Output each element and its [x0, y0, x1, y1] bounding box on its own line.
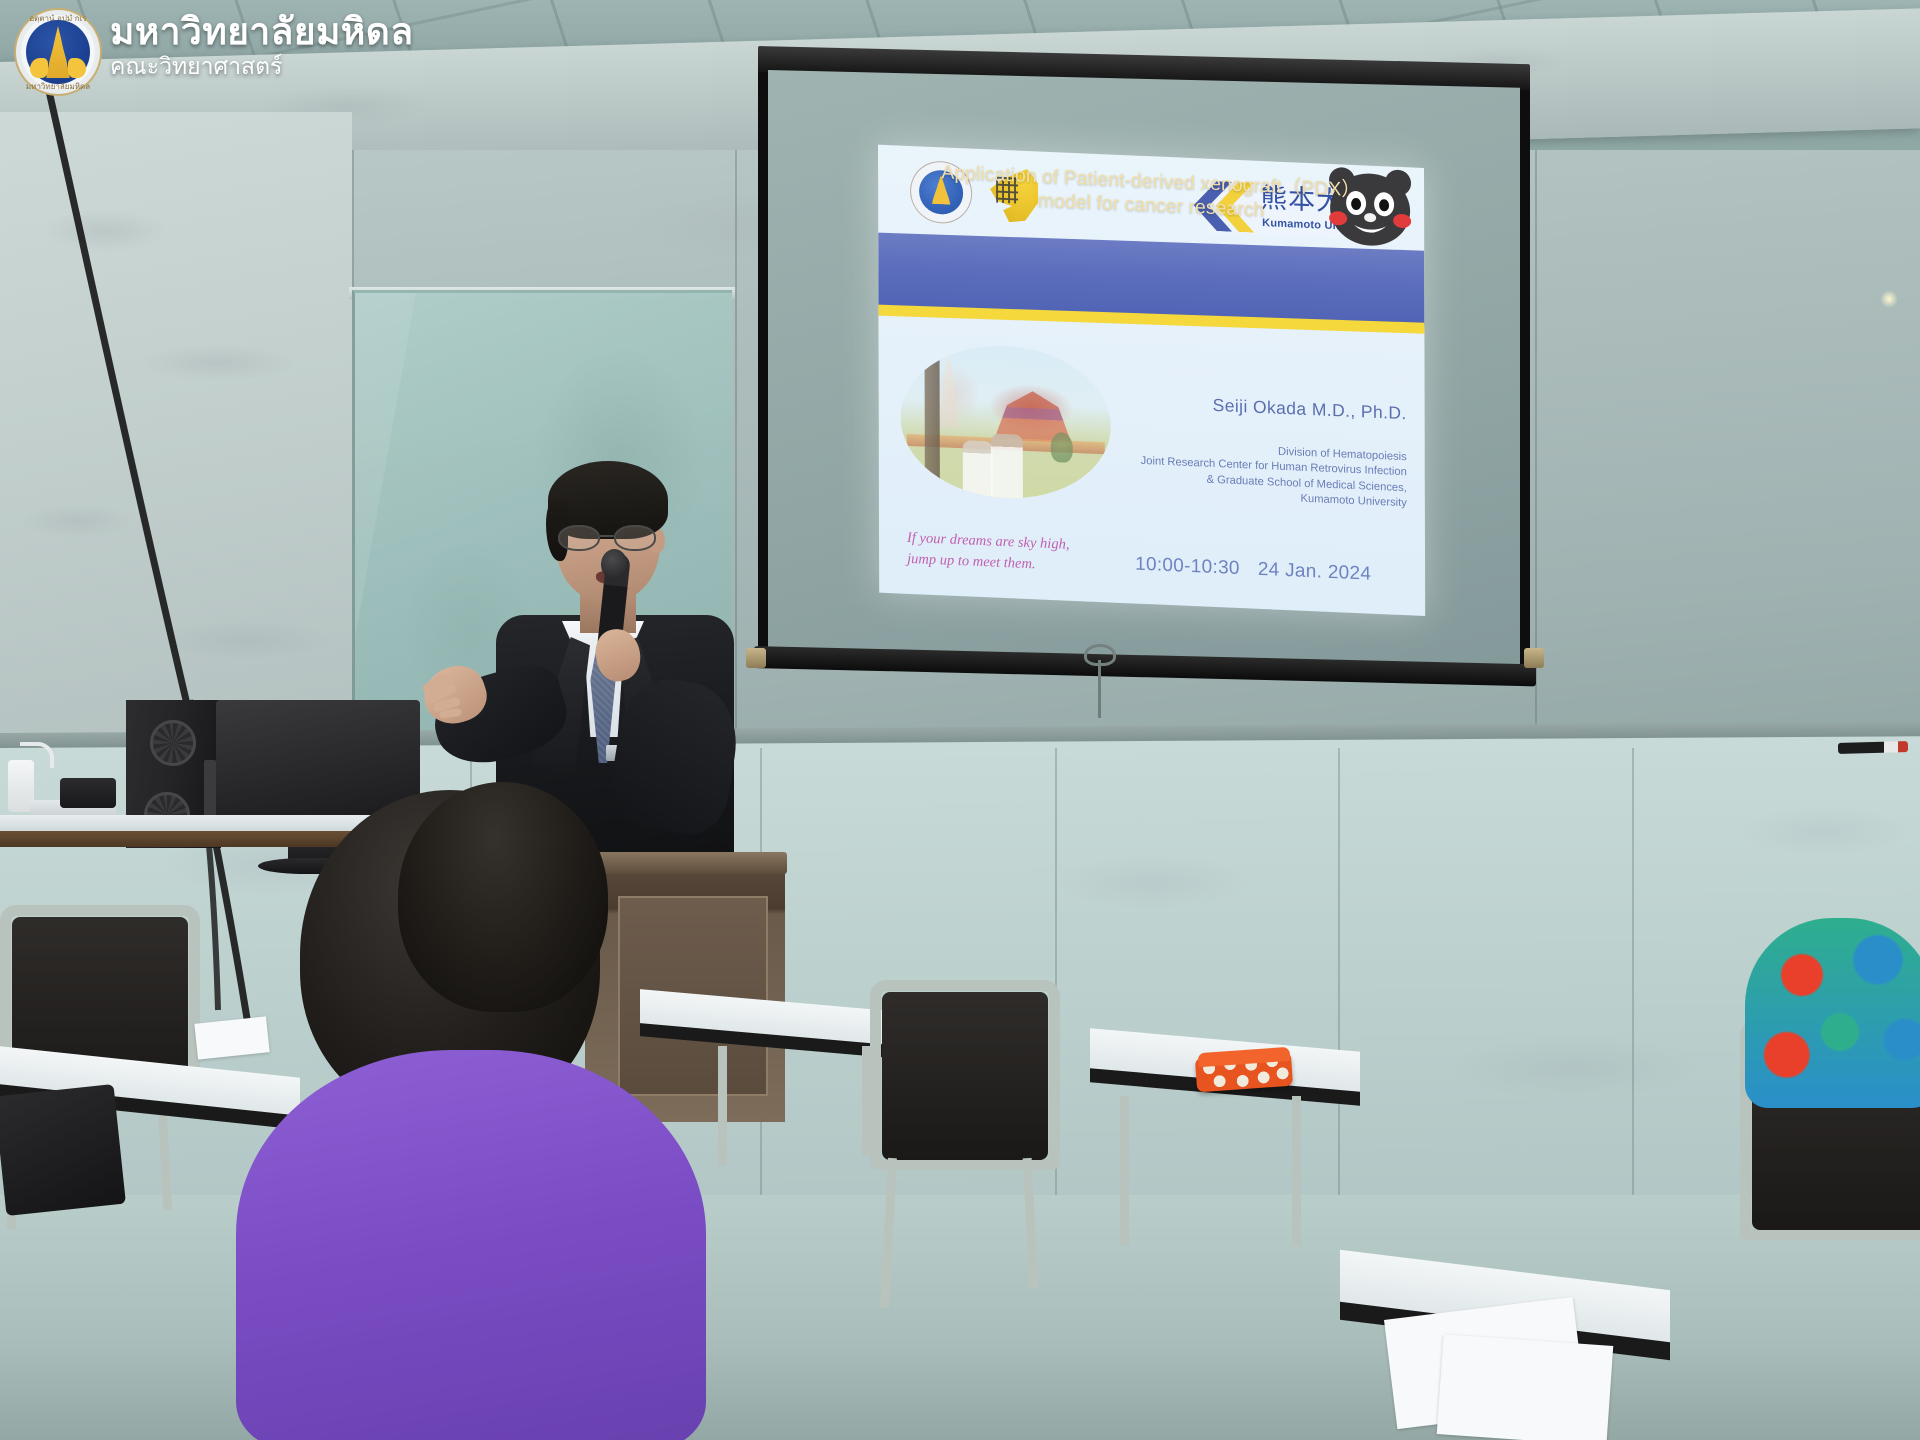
slide-date: 24 Jan. 2024 [1258, 559, 1372, 585]
chair-center-1[interactable] [870, 980, 1060, 1170]
projection-screen: mahidol-university-seal 熊本大学 Kumamoto U [758, 46, 1530, 666]
audience-patterned-shirt [1745, 918, 1920, 1108]
watermark-faculty: คณะวิทยาศาสตร์ [110, 54, 414, 82]
wall-seam [1632, 748, 1634, 1218]
paper-sheet-right-2 [1437, 1334, 1614, 1440]
mahidol-watermark: อตฺตานํ อุปมํ กเร มหาวิทยาลัยมหิดล มหาวิ… [14, 6, 414, 98]
light-glare [1880, 290, 1898, 308]
laptop-foreground[interactable] [0, 1084, 126, 1216]
cable-bundle [60, 778, 116, 808]
presenter-info: Seiji Okada M.D., Ph.D. Division of Hema… [1077, 389, 1407, 512]
slide-quote: If your dreams are sky high, jump up to … [907, 528, 1127, 579]
speaker-glasses [556, 525, 666, 551]
whiteboard-marker [1838, 741, 1908, 754]
left-marble-column [0, 112, 352, 772]
seal-name-bottom: มหาวิทยาลัยมหิดล [14, 80, 102, 93]
watermark-org: มหาวิทยาลัยมหิดล [110, 12, 414, 52]
mahidol-seal-icon: อตฺตานํ อุปมํ กเร มหาวิทยาลัยมหิดล [14, 8, 102, 96]
screen-surface: mahidol-university-seal 熊本大学 Kumamoto U [768, 70, 1520, 668]
phone-on-desk[interactable] [194, 1016, 269, 1059]
screen-end-cap-right [1524, 648, 1544, 668]
screen-pull-cord[interactable] [1098, 660, 1101, 718]
wall-seam [1338, 748, 1340, 1218]
audience-head-second [398, 782, 608, 1012]
presentation-slide: mahidol-university-seal 熊本大学 Kumamoto U [878, 145, 1425, 616]
podium-top [575, 852, 787, 874]
presenter-name: Seiji Okada M.D., Ph.D. [1077, 389, 1407, 424]
lecture-hall-photo: mahidol-university-seal 熊本大学 Kumamoto U [0, 0, 1920, 1440]
audience-purple-shirt [236, 1050, 706, 1440]
slide-schedule: 10:00-10:3024 Jan. 2024 [1135, 554, 1405, 588]
slide-time: 10:00-10:30 [1135, 554, 1240, 579]
